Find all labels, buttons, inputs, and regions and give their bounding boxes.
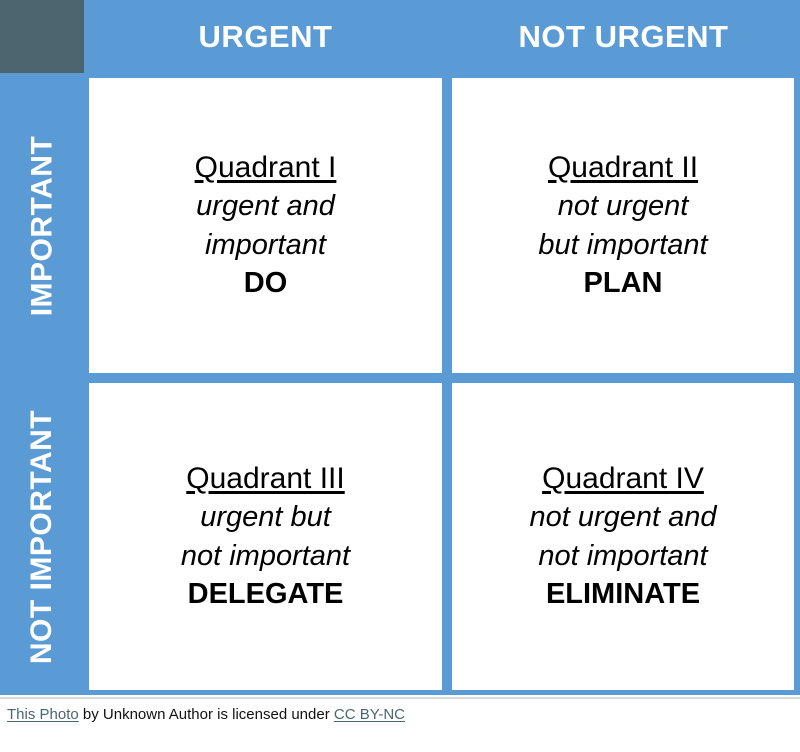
priority-matrix: URGENT NOT URGENT IMPORTANT NOT IMPORTAN… xyxy=(0,0,800,695)
quadrant-4-desc-line-2: not important xyxy=(538,537,707,576)
quadrant-1-action: DO xyxy=(244,265,288,301)
row-header-important-label: IMPORTANT xyxy=(25,135,59,316)
quadrant-2-action: PLAN xyxy=(584,265,663,301)
row-header-not-important-label: NOT IMPORTANT xyxy=(25,409,59,663)
quadrant-3-title: Quadrant III xyxy=(186,461,344,496)
eisenhower-matrix-page: URGENT NOT URGENT IMPORTANT NOT IMPORTAN… xyxy=(0,0,800,752)
quadrant-4-cell: Quadrant IV not urgent and not important… xyxy=(452,383,794,690)
column-header-urgent-label: URGENT xyxy=(199,19,333,55)
row-header-not-important: NOT IMPORTANT xyxy=(0,378,84,695)
this-photo-link[interactable]: This Photo xyxy=(7,706,79,723)
column-header-urgent: URGENT xyxy=(84,0,447,73)
row-header-important: IMPORTANT xyxy=(0,73,84,378)
quadrant-1-desc-line-2: important xyxy=(205,226,326,265)
quadrant-4-desc-line-1: not urgent and xyxy=(529,498,716,537)
column-header-not-urgent-label: NOT URGENT xyxy=(519,19,729,55)
quadrant-1-cell: Quadrant I urgent and important DO xyxy=(89,78,442,373)
footer-divider xyxy=(0,697,800,699)
quadrant-1-title: Quadrant I xyxy=(195,150,337,185)
quadrant-2-desc-line-1: not urgent xyxy=(558,187,689,226)
quadrant-3-cell: Quadrant III urgent but not important DE… xyxy=(89,383,442,690)
quadrant-3-desc-line-2: not important xyxy=(181,537,350,576)
quadrant-3-desc-line-1: urgent but xyxy=(200,498,331,537)
license-link[interactable]: CC BY-NC xyxy=(334,706,405,723)
quadrant-3-action: DELEGATE xyxy=(188,576,344,612)
quadrant-4-action: ELIMINATE xyxy=(546,576,700,612)
attribution-line: This Photo by Unknown Author is licensed… xyxy=(7,706,787,723)
quadrant-2-cell: Quadrant II not urgent but important PLA… xyxy=(452,78,794,373)
matrix-corner-block xyxy=(0,0,84,73)
quadrant-2-title: Quadrant II xyxy=(548,150,698,185)
quadrant-1-desc-line-1: urgent and xyxy=(196,187,335,226)
quadrant-2-desc-line-2: but important xyxy=(538,226,707,265)
column-header-not-urgent: NOT URGENT xyxy=(447,0,800,73)
attribution-middle-text: by Unknown Author is licensed under xyxy=(79,706,334,723)
quadrant-4-title: Quadrant IV xyxy=(542,461,704,496)
